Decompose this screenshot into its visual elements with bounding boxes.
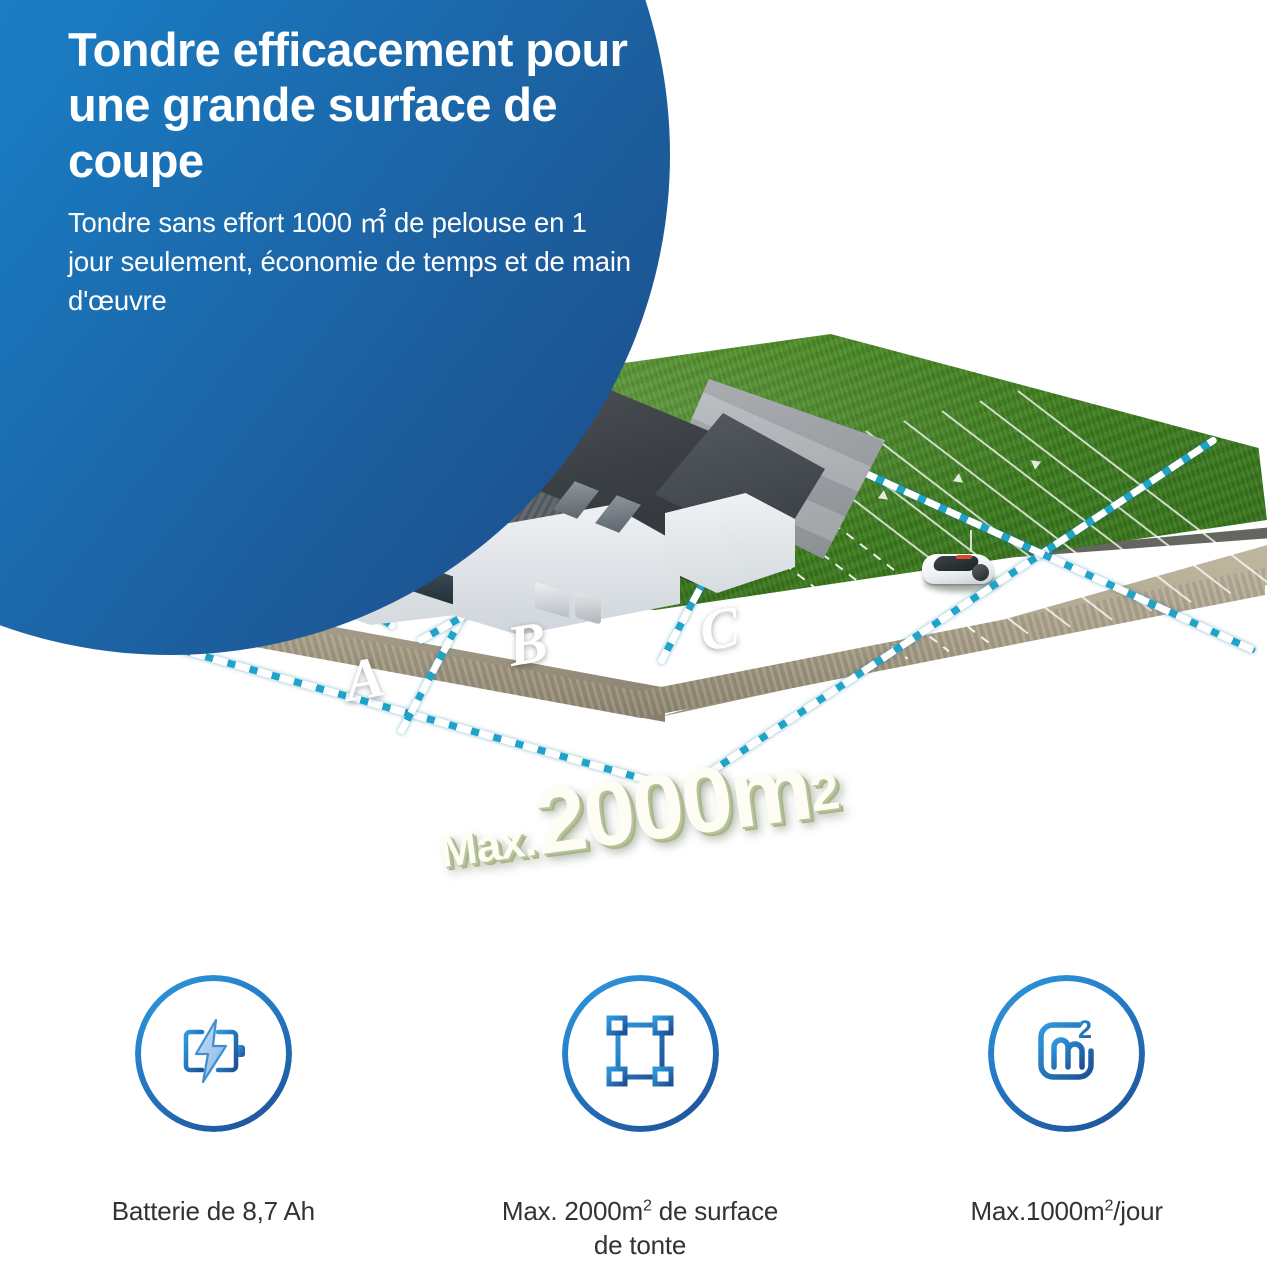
feature-item-area[interactable]: Max. 2000m2 de surface de tonte — [427, 975, 854, 1280]
feature-caption-tail: /jour — [1113, 1196, 1163, 1226]
mower-antenna — [970, 530, 972, 552]
feature-caption-main: Max. 2000m — [502, 1196, 643, 1226]
feature-caption-sup: 2 — [643, 1196, 652, 1214]
svg-text:2: 2 — [1078, 1016, 1092, 1044]
feature-caption-main: Max.1000m — [970, 1196, 1104, 1226]
feature-caption-battery: Batterie de 8,7 Ah — [48, 1194, 378, 1228]
page-subtitle: Tondre sans effort 1000 ㎡ de pelouse en … — [68, 203, 638, 320]
feature-item-battery[interactable]: Batterie de 8,7 Ah — [0, 975, 427, 1280]
feature-list: Batterie de 8,7 Ah — [0, 975, 1280, 1280]
feature-icon-circle — [562, 975, 719, 1132]
feature-caption-daily: Max.1000m2/jour — [902, 1194, 1232, 1228]
mower-accent-stripe — [955, 555, 972, 559]
battery-charging-icon — [172, 1010, 254, 1097]
area-selection-icon — [600, 1011, 680, 1096]
feature-item-daily[interactable]: 2 Max.1000m2/jour — [853, 975, 1280, 1280]
mower-wheel — [972, 564, 989, 581]
feature-icon-circle — [135, 975, 292, 1132]
feature-caption-area: Max. 2000m2 de surface de tonte — [490, 1194, 790, 1263]
hero-text-block: Tondre efficacement pour une grande surf… — [68, 22, 638, 321]
feature-icon-circle: 2 — [988, 975, 1145, 1132]
page-title: Tondre efficacement pour une grande surf… — [68, 22, 638, 188]
feature-caption-main: Batterie de 8,7 Ah — [112, 1196, 315, 1226]
feature-caption-sup: 2 — [1105, 1196, 1114, 1214]
max-area-prefix: Max. — [436, 814, 538, 877]
square-meter-icon: 2 — [1027, 1011, 1107, 1096]
